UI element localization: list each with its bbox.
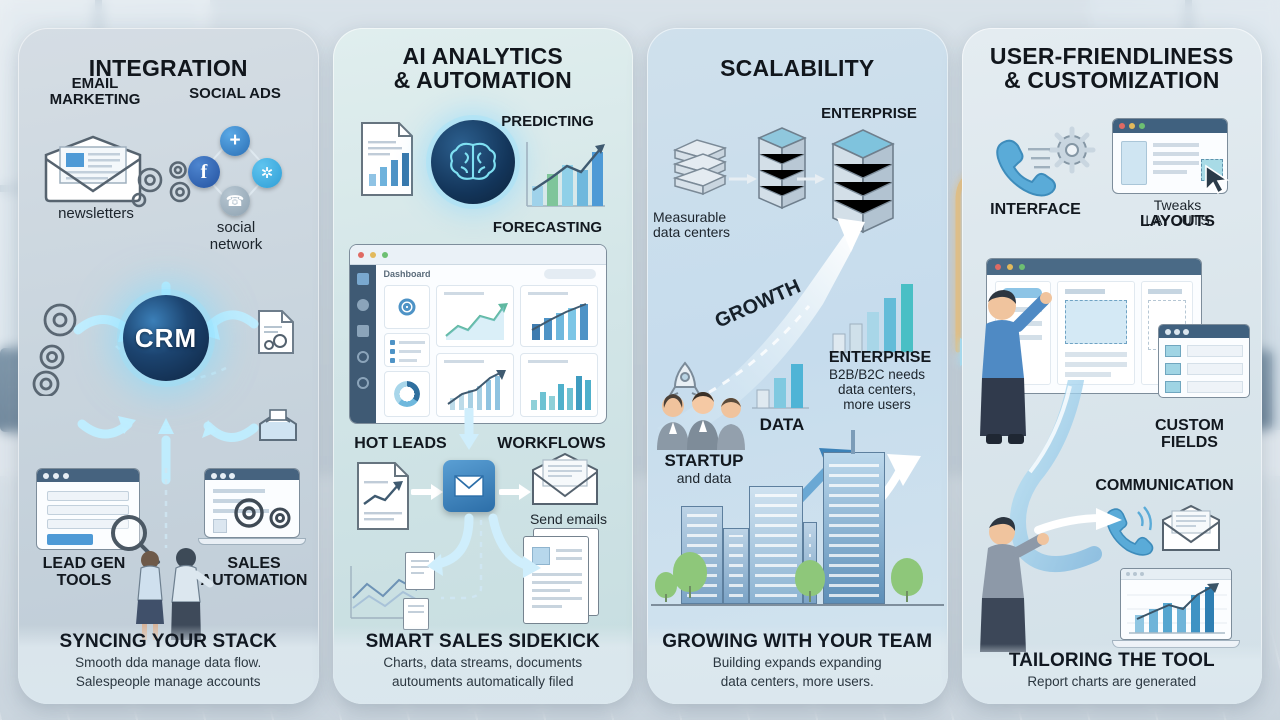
grid-thumb: [213, 519, 227, 533]
panel-scalability-body: Measurable data centers: [647, 28, 948, 704]
footer-line-2: autouments automatically filed: [341, 674, 626, 690]
window-dot: [1140, 572, 1144, 576]
sales-automation-laptop[interactable]: [198, 468, 306, 554]
window-dot: [1133, 572, 1137, 576]
dashboard-search[interactable]: [544, 269, 596, 279]
gears-cluster-top: [130, 156, 206, 210]
row-line: [1153, 170, 1187, 174]
crm-hub[interactable]: CRM: [123, 295, 209, 381]
ai-brain-icon[interactable]: [431, 120, 515, 204]
ui-center-column[interactable]: [1057, 281, 1135, 385]
window-dot: [63, 473, 69, 479]
footer-heading: TAILORING THE TOOL: [970, 650, 1255, 672]
footer-heading: GROWING WITH YOUR TEAM: [655, 631, 940, 653]
window-close-dot[interactable]: [1119, 123, 1125, 129]
dashboard-card-line-1[interactable]: [436, 285, 514, 347]
sidebar-icon-user[interactable]: [357, 299, 369, 311]
row-line: [1153, 152, 1199, 156]
label-enterprise-top: ENTERPRISE: [807, 106, 931, 122]
window-dot: [1165, 329, 1171, 335]
label-enterprise-detail-body: B2B/B2C needs data centers, more users: [811, 368, 943, 413]
window-dot: [229, 473, 235, 479]
tower-spire: [851, 430, 855, 454]
row-line: [1153, 143, 1199, 147]
enterprise-growth-chart: [825, 280, 917, 358]
label-forecasting: FORECASTING: [473, 220, 623, 236]
row-line: [1153, 161, 1199, 165]
image-placeholder[interactable]: [1065, 300, 1127, 344]
window-dot: [43, 473, 49, 479]
window-titlebar: [1159, 325, 1249, 338]
building: [749, 486, 803, 604]
footer-line-1: Report charts are generated: [970, 674, 1255, 690]
footer-scalability: GROWING WITH YOUR TEAM Building expands …: [647, 625, 948, 704]
dashboard-card-list[interactable]: [384, 333, 430, 367]
person-standing: [970, 514, 1054, 658]
label-interface: INTERFACE: [972, 202, 1100, 219]
window-minimize-dot[interactable]: [1129, 123, 1135, 129]
whatsapp-icon[interactable]: ☎: [220, 186, 250, 216]
sidebar-icon-gear[interactable]: [357, 377, 369, 389]
tree: [891, 558, 923, 596]
window-close-dot[interactable]: [995, 264, 1001, 270]
dashboard-card-bar-1[interactable]: [520, 285, 598, 347]
footer-line-1: Smooth dda manage data flow.: [26, 655, 311, 671]
window-maximize-dot[interactable]: [1019, 264, 1025, 270]
footer-line-2: data centers, more users.: [655, 674, 940, 690]
panel-block: [1121, 141, 1147, 185]
window-close-dot[interactable]: [358, 252, 364, 258]
gear-icon: [264, 502, 296, 539]
window-maximize-dot[interactable]: [382, 252, 388, 258]
checkbox-row[interactable]: [1165, 363, 1181, 375]
sidebar-icon-chart[interactable]: [357, 325, 369, 337]
window-dot: [53, 473, 59, 479]
footer-user-friendliness: TAILORING THE TOOL Report charts are gen…: [962, 644, 1263, 704]
window-titlebar: [1121, 569, 1231, 580]
predicting-chart: [521, 138, 609, 214]
ground-line: [651, 604, 944, 606]
phone-lines-icon: [1028, 146, 1052, 176]
footer-ai-analytics: SMART SALES SIDEKICK Charts, data stream…: [333, 625, 634, 704]
footer-integration: SYNCING YOUR STACK Smooth dda manage dat…: [18, 625, 319, 704]
window-dot: [1126, 572, 1130, 576]
label-enterprise-detail: ENTERPRISE: [817, 350, 943, 367]
footer-line-2: Salespeople manage accounts: [26, 674, 311, 690]
crm-hub-label: CRM: [135, 323, 197, 354]
panel-ai-analytics-body: PREDICTING FORECASTING: [333, 28, 634, 704]
label-predicting: PREDICTING: [483, 114, 613, 130]
gear-icon: [1046, 124, 1098, 176]
window-dot: [1183, 329, 1189, 335]
laptop-screen: [1120, 568, 1232, 640]
panel-user-friendliness-body: INTERFACE Tweaks LAYOUTS LAYOUTS: [962, 28, 1263, 704]
window-dot: [220, 473, 226, 479]
window-minimize-dot[interactable]: [1007, 264, 1013, 270]
panel-row: INTEGRATION EMAIL MARKETING newsletters …: [0, 0, 1280, 720]
dashboard-window[interactable]: Dashboard: [349, 244, 607, 424]
footer-line-1: Charts, data streams, documents: [341, 655, 626, 671]
form-field: [47, 491, 129, 501]
internal-flow-arrows: [333, 408, 633, 628]
dashboard-titlebar: [350, 245, 606, 265]
submit-button[interactable]: [47, 534, 93, 545]
panel-integration[interactable]: INTEGRATION EMAIL MARKETING newsletters …: [18, 28, 319, 704]
window-dot: [1174, 329, 1180, 335]
label-email-marketing: EMAIL MARKETING: [30, 76, 160, 107]
city-skyline: [647, 452, 948, 612]
label-social-ads: SOCIAL ADS: [168, 86, 302, 102]
source-document-icon: [359, 120, 415, 198]
window-maximize-dot[interactable]: [1139, 123, 1145, 129]
checkbox-row[interactable]: [1165, 345, 1181, 357]
footer-line-1: Building expands expanding: [655, 655, 940, 671]
panel-scalability[interactable]: SCALABILITY Measurable data centers: [647, 28, 948, 704]
building: [723, 528, 749, 604]
panel-ai-analytics[interactable]: AI ANALYTICS & AUTOMATION: [333, 28, 634, 704]
twitter-icon[interactable]: ✲: [252, 158, 282, 188]
sidebar-icon-home[interactable]: [357, 273, 369, 285]
label-layouts: LAYOUTS: [1120, 214, 1236, 231]
panel-user-friendliness[interactable]: USER-FRIENDLINESS & CUSTOMIZATION: [962, 28, 1263, 704]
data-chart: [749, 358, 811, 414]
building-tower: [823, 452, 885, 604]
window-dot: [211, 473, 217, 479]
tree: [673, 552, 707, 592]
panel-integration-body: EMAIL MARKETING newsletters SOCIAL ADS: [18, 28, 319, 704]
tree: [795, 560, 825, 596]
label-data: DATA: [745, 416, 819, 434]
dashboard-sidebar[interactable]: [350, 265, 376, 423]
dashboard-title: Dashboard: [384, 269, 431, 279]
plus-icon[interactable]: +: [220, 126, 250, 156]
sidebar-icon-clock[interactable]: [357, 351, 369, 363]
report-chart: [1127, 583, 1227, 637]
dashboard-card-gear[interactable]: [384, 285, 430, 329]
window-minimize-dot[interactable]: [370, 252, 376, 258]
cursor-icon: [1204, 164, 1230, 199]
footer-heading: SMART SALES SIDEKICK: [341, 631, 626, 653]
footer-heading: SYNCING YOUR STACK: [26, 631, 311, 653]
